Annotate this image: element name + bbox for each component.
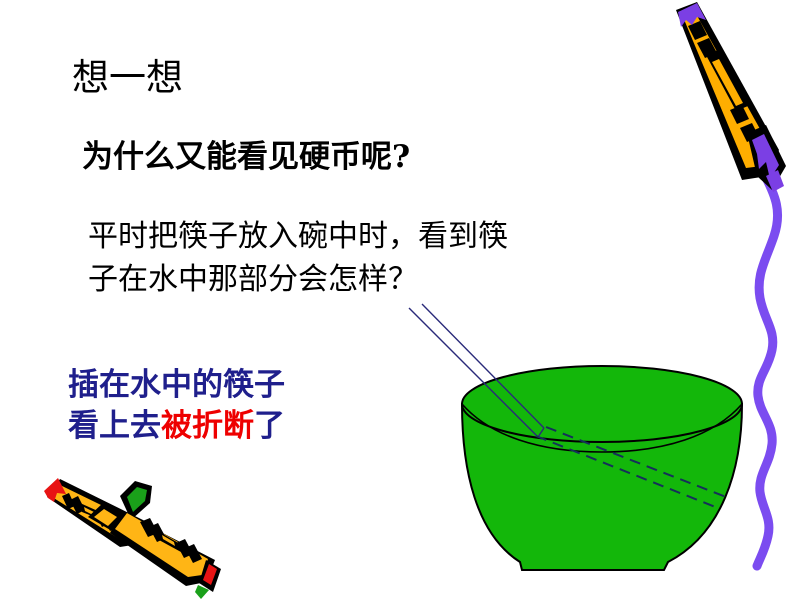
crayon-red-tip <box>88 481 221 599</box>
explanation-line-1: 平时把筷子放入碗中时，看到筷 <box>88 219 508 254</box>
explanation-block: 平时把筷子放入碗中时，看到筷 子在水中那部分会怎样？ <box>88 216 508 301</box>
question-line: 为什么又能看见硬币呢? <box>82 138 410 178</box>
bowl-inner-curve <box>462 404 742 452</box>
green-bowl <box>462 366 742 570</box>
bowl-body <box>462 404 742 570</box>
purple-squiggle-line <box>757 172 778 566</box>
crayon-green-tip <box>44 478 155 562</box>
page-title: 想一想 <box>72 54 183 101</box>
bowl-rim <box>462 366 742 442</box>
crayon-purple <box>676 2 786 192</box>
crayon-pair <box>44 478 221 599</box>
chopstick-refracted-dashed <box>536 427 726 508</box>
conclusion-highlight: 被折断 <box>161 408 254 444</box>
slide-canvas: 想一想 为什么又能看见硬币呢? 平时把筷子放入碗中时，看到筷 子在水中那部分会怎… <box>0 0 800 600</box>
conclusion-line-1: 插在水中的筷子 <box>68 367 285 403</box>
conclusion-line-2-prefix: 看上去 <box>68 408 161 444</box>
chopstick-above-water <box>409 304 544 437</box>
conclusion-block: 插在水中的筷子 看上去被折断了 <box>68 365 285 447</box>
explanation-line-2: 子在水中那部分会怎样？ <box>88 262 418 297</box>
conclusion-line-2-suffix: 了 <box>254 408 285 444</box>
